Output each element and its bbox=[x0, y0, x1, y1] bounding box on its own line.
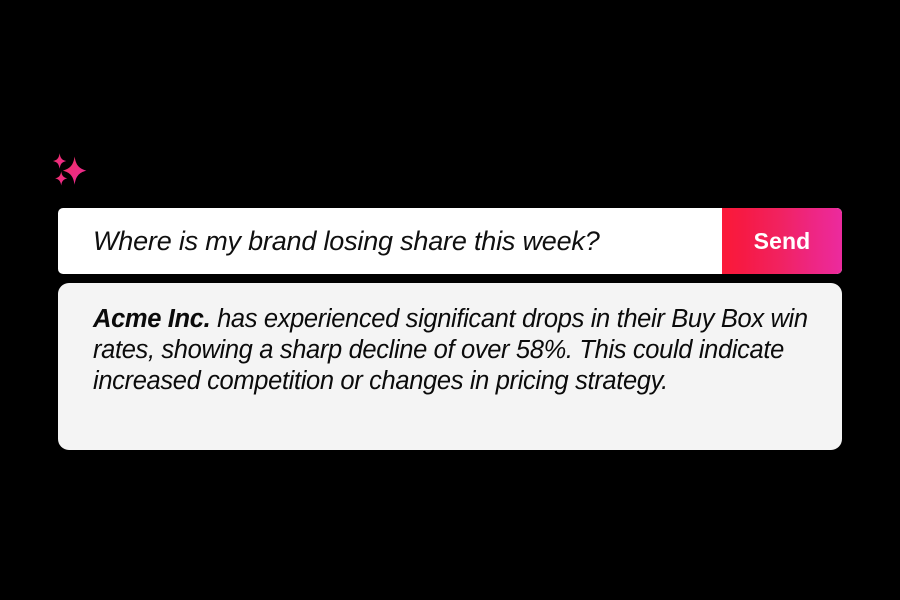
sparkle-star-top bbox=[53, 153, 66, 169]
sparkle-star-bottom bbox=[55, 171, 67, 185]
answer-card: Acme Inc. has experienced significant dr… bbox=[58, 283, 842, 450]
answer-text: Acme Inc. has experienced significant dr… bbox=[93, 304, 808, 397]
query-input[interactable] bbox=[58, 208, 722, 274]
ai-assistant-panel: Send Acme Inc. has experienced significa… bbox=[0, 0, 900, 600]
send-button-label: Send bbox=[754, 228, 811, 255]
answer-brand-name: Acme Inc. bbox=[93, 305, 210, 333]
sparkle-icon bbox=[50, 150, 96, 196]
sparkle-star-large bbox=[63, 157, 87, 185]
prompt-bar: Send bbox=[58, 208, 842, 274]
send-button[interactable]: Send bbox=[722, 208, 842, 274]
